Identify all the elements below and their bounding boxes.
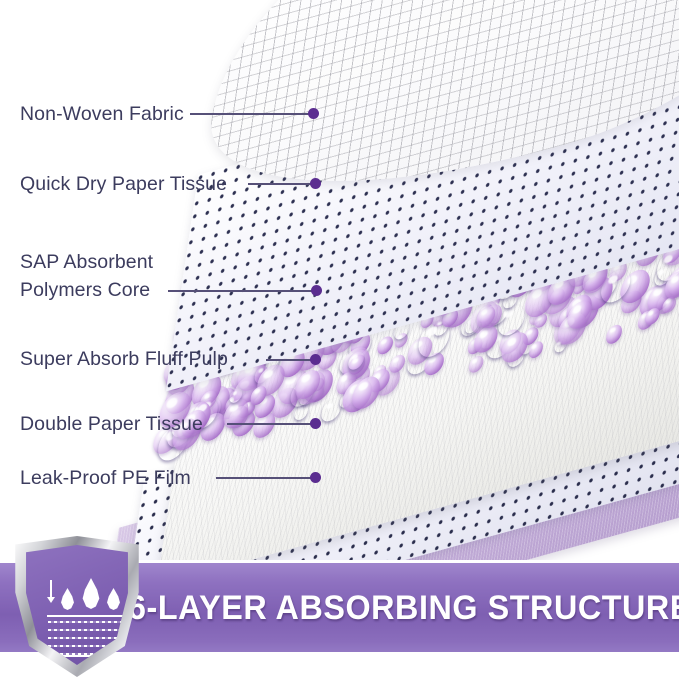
sap-gel-bead	[468, 355, 485, 375]
droplet-left-icon	[59, 588, 76, 610]
callout-leader-line	[190, 113, 310, 115]
callout-label: Leak-Proof PE Film	[20, 466, 191, 491]
callout-label: SAP Absorbent	[20, 250, 153, 275]
droplet-center-icon	[80, 578, 102, 609]
callout-leader-line	[216, 477, 312, 479]
callout-anchor-dot	[308, 108, 319, 119]
callout-anchor-dot	[310, 178, 321, 189]
callout-label: Super Absorb Fluff Pulp	[20, 347, 228, 372]
callout-leader-line	[168, 290, 313, 292]
callout-label: Quick Dry Paper Tissue	[20, 172, 227, 197]
down-arrow-left-icon	[50, 580, 52, 598]
callout-label: Non-Woven Fabric	[20, 102, 184, 127]
callout-anchor-dot	[310, 354, 321, 365]
sap-gel-bead	[388, 353, 406, 375]
sap-gel-bead	[605, 323, 624, 346]
callout-label: Polymers Core	[20, 278, 150, 303]
sap-gel-bead	[376, 334, 394, 356]
droplet-right-icon	[105, 588, 122, 610]
callout-label: Double Paper Tissue	[20, 412, 203, 437]
water-droplets-icon	[49, 577, 135, 611]
callout-anchor-dot	[310, 472, 321, 483]
callout-leader-line	[227, 423, 312, 425]
callout-anchor-dot	[310, 418, 321, 429]
callout-leader-line	[266, 359, 312, 361]
callout-anchor-dot	[311, 285, 322, 296]
product-structure-infographic: Non-Woven FabricQuick Dry Paper TissueSA…	[0, 0, 679, 677]
callout-leader-line	[248, 183, 312, 185]
absorption-shield-badge	[14, 536, 140, 677]
banner-headline: 6-LAYER ABSORBING STRUCTURE	[128, 578, 646, 638]
